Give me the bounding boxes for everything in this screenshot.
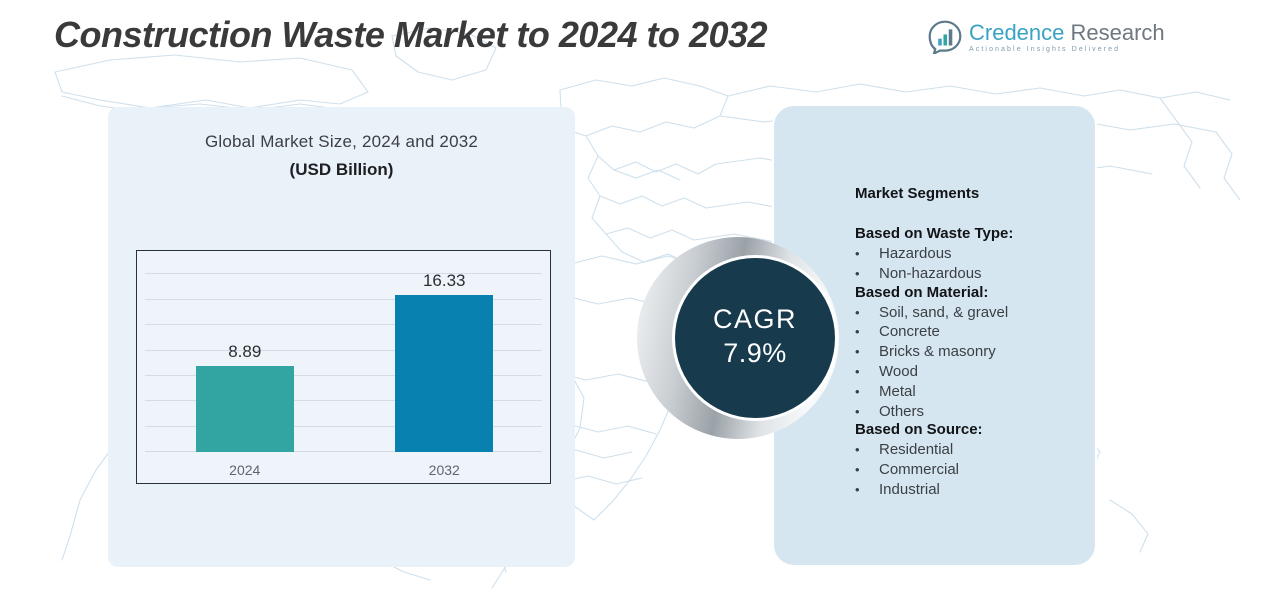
segment-item-label: Commercial [879,460,959,480]
segment-item-label: Bricks & masonry [879,342,996,362]
bullet-icon: • [855,304,879,321]
segments-groups: Based on Waste Type:•Hazardous•Non-hazar… [855,225,1090,500]
brand-name-first: Credence [969,20,1064,45]
segment-group-heading: Based on Source: [855,421,1090,438]
segment-item-label: Residential [879,440,953,460]
bullet-icon: • [855,343,879,360]
chart-bar-2032 [395,295,493,452]
cagr-badge: CAGR 7.9% [637,237,839,439]
page-title: Construction Waste Market to 2024 to 203… [54,14,767,56]
segment-item-label: Industrial [879,480,940,500]
bar-chart: 8.89202416.332032 [136,250,551,484]
segment-list-item: •Residential [855,440,1090,460]
segment-group-heading: Based on Material: [855,284,1090,301]
chart-bar-2024 [196,366,294,452]
segment-item-label: Metal [879,382,916,402]
chart-heading: Global Market Size, 2024 and 2032 (USD B… [108,132,575,180]
segment-list-item: •Metal [855,382,1090,402]
segment-group: Based on Source:•Residential•Commercial•… [855,421,1090,499]
segment-list-item: •Concrete [855,322,1090,342]
bullet-icon: • [855,363,879,380]
chart-category-label-2032: 2032 [394,462,494,478]
segment-list-item: •Non-hazardous [855,264,1090,284]
chart-heading-line1: Global Market Size, 2024 and 2032 [108,132,575,152]
segment-item-label: Soil, sand, & gravel [879,303,1008,323]
chart-category-label-2024: 2024 [195,462,295,478]
segment-list-item: •Commercial [855,460,1090,480]
cagr-circle: CAGR 7.9% [675,258,835,418]
bullet-icon: • [855,265,879,282]
segment-list-item: •Hazardous [855,244,1090,264]
segment-group-heading: Based on Waste Type: [855,225,1090,242]
segment-group: Based on Material:•Soil, sand, & gravel•… [855,284,1090,422]
brand-name: Credence Research [969,21,1165,44]
segment-list-item: •Bricks & masonry [855,342,1090,362]
chart-heading-line2: (USD Billion) [108,160,575,180]
segments-title: Market Segments [855,185,1090,202]
brand-logo-text: Credence Research Actionable Insights De… [969,21,1165,53]
segment-list-item: •Soil, sand, & gravel [855,303,1090,323]
bullet-icon: • [855,383,879,400]
bullet-icon: • [855,441,879,458]
cagr-label: CAGR [713,305,797,335]
brand-logo: Credence Research Actionable Insights De… [928,20,1165,54]
bar-chart-bubble-logo-icon [928,20,962,54]
bullet-icon: • [855,245,879,262]
segment-item-label: Others [879,402,924,422]
bullet-icon: • [855,403,879,420]
bullet-icon: • [855,323,879,340]
brand-name-second: Research [1071,20,1165,45]
segment-item-label: Hazardous [879,244,952,264]
segment-item-label: Non-hazardous [879,264,982,284]
chart-bar-value-2032: 16.33 [394,271,494,291]
chart-plot-area: 8.89202416.332032 [137,251,550,483]
segment-item-label: Concrete [879,322,940,342]
bullet-icon: • [855,461,879,478]
segment-item-label: Wood [879,362,918,382]
segment-list-item: •Wood [855,362,1090,382]
chart-bar-value-2024: 8.89 [195,342,295,362]
cagr-value: 7.9% [723,337,787,371]
infographic-canvas: Construction Waste Market to 2024 to 203… [0,0,1261,593]
segment-list-item: •Industrial [855,480,1090,500]
segment-list-item: •Others [855,402,1090,422]
segments-content: Market Segments Based on Waste Type:•Haz… [855,185,1090,500]
segment-group: Based on Waste Type:•Hazardous•Non-hazar… [855,225,1090,284]
brand-tagline: Actionable Insights Delivered [969,46,1165,53]
bullet-icon: • [855,481,879,498]
